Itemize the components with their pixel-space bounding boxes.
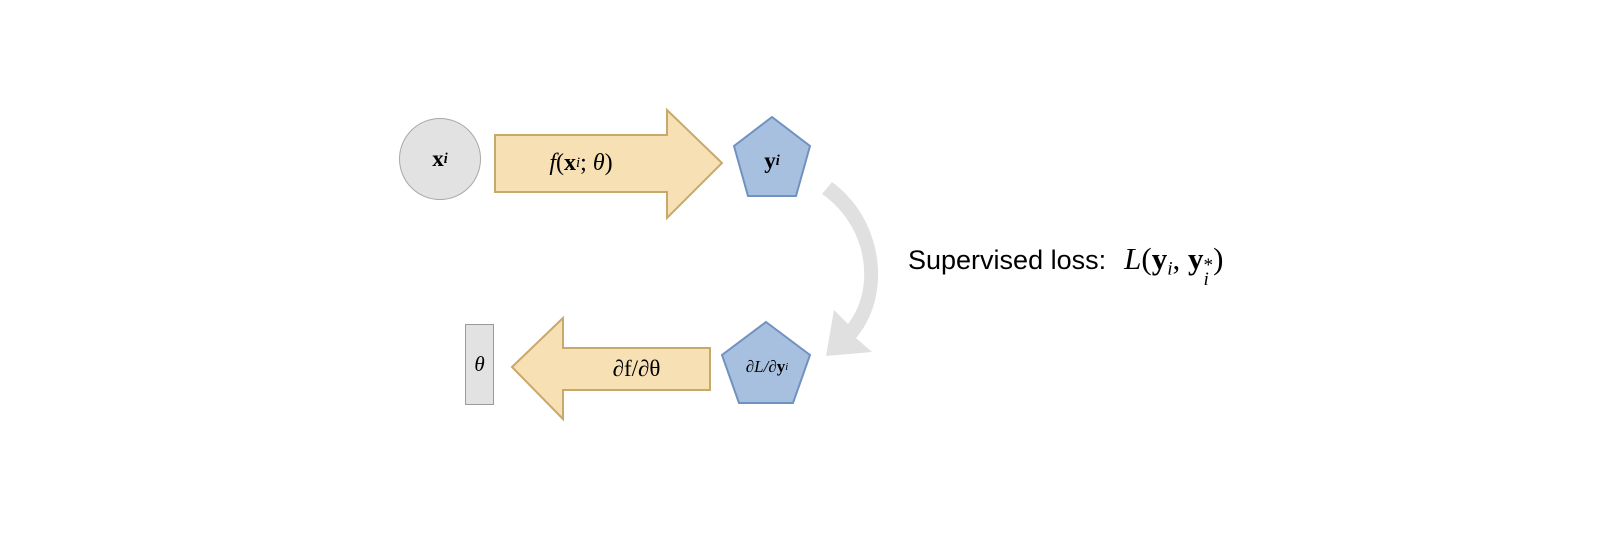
loss-caption-text: Supervised loss: [908,245,1106,276]
loss-curved-arrow-shape [822,182,878,356]
theta-rect-shape [465,324,494,405]
grad-pentagon-shape [722,322,810,403]
input-circle-shape [399,118,481,200]
loss-caption-math: L(yi, y*i) [1124,241,1223,285]
diagram-canvas: xi θ yi ∂L/∂yi f(xi; θ) ∂f/∂θ Supervised… [0,0,1600,540]
supervised-loss-caption: Supervised loss: L(yi, y*i) [908,241,1223,285]
backward-arrow-shape [512,318,710,419]
forward-arrow-shape [495,110,722,218]
shapes-layer [0,0,1600,540]
output-pentagon-shape [734,117,810,196]
